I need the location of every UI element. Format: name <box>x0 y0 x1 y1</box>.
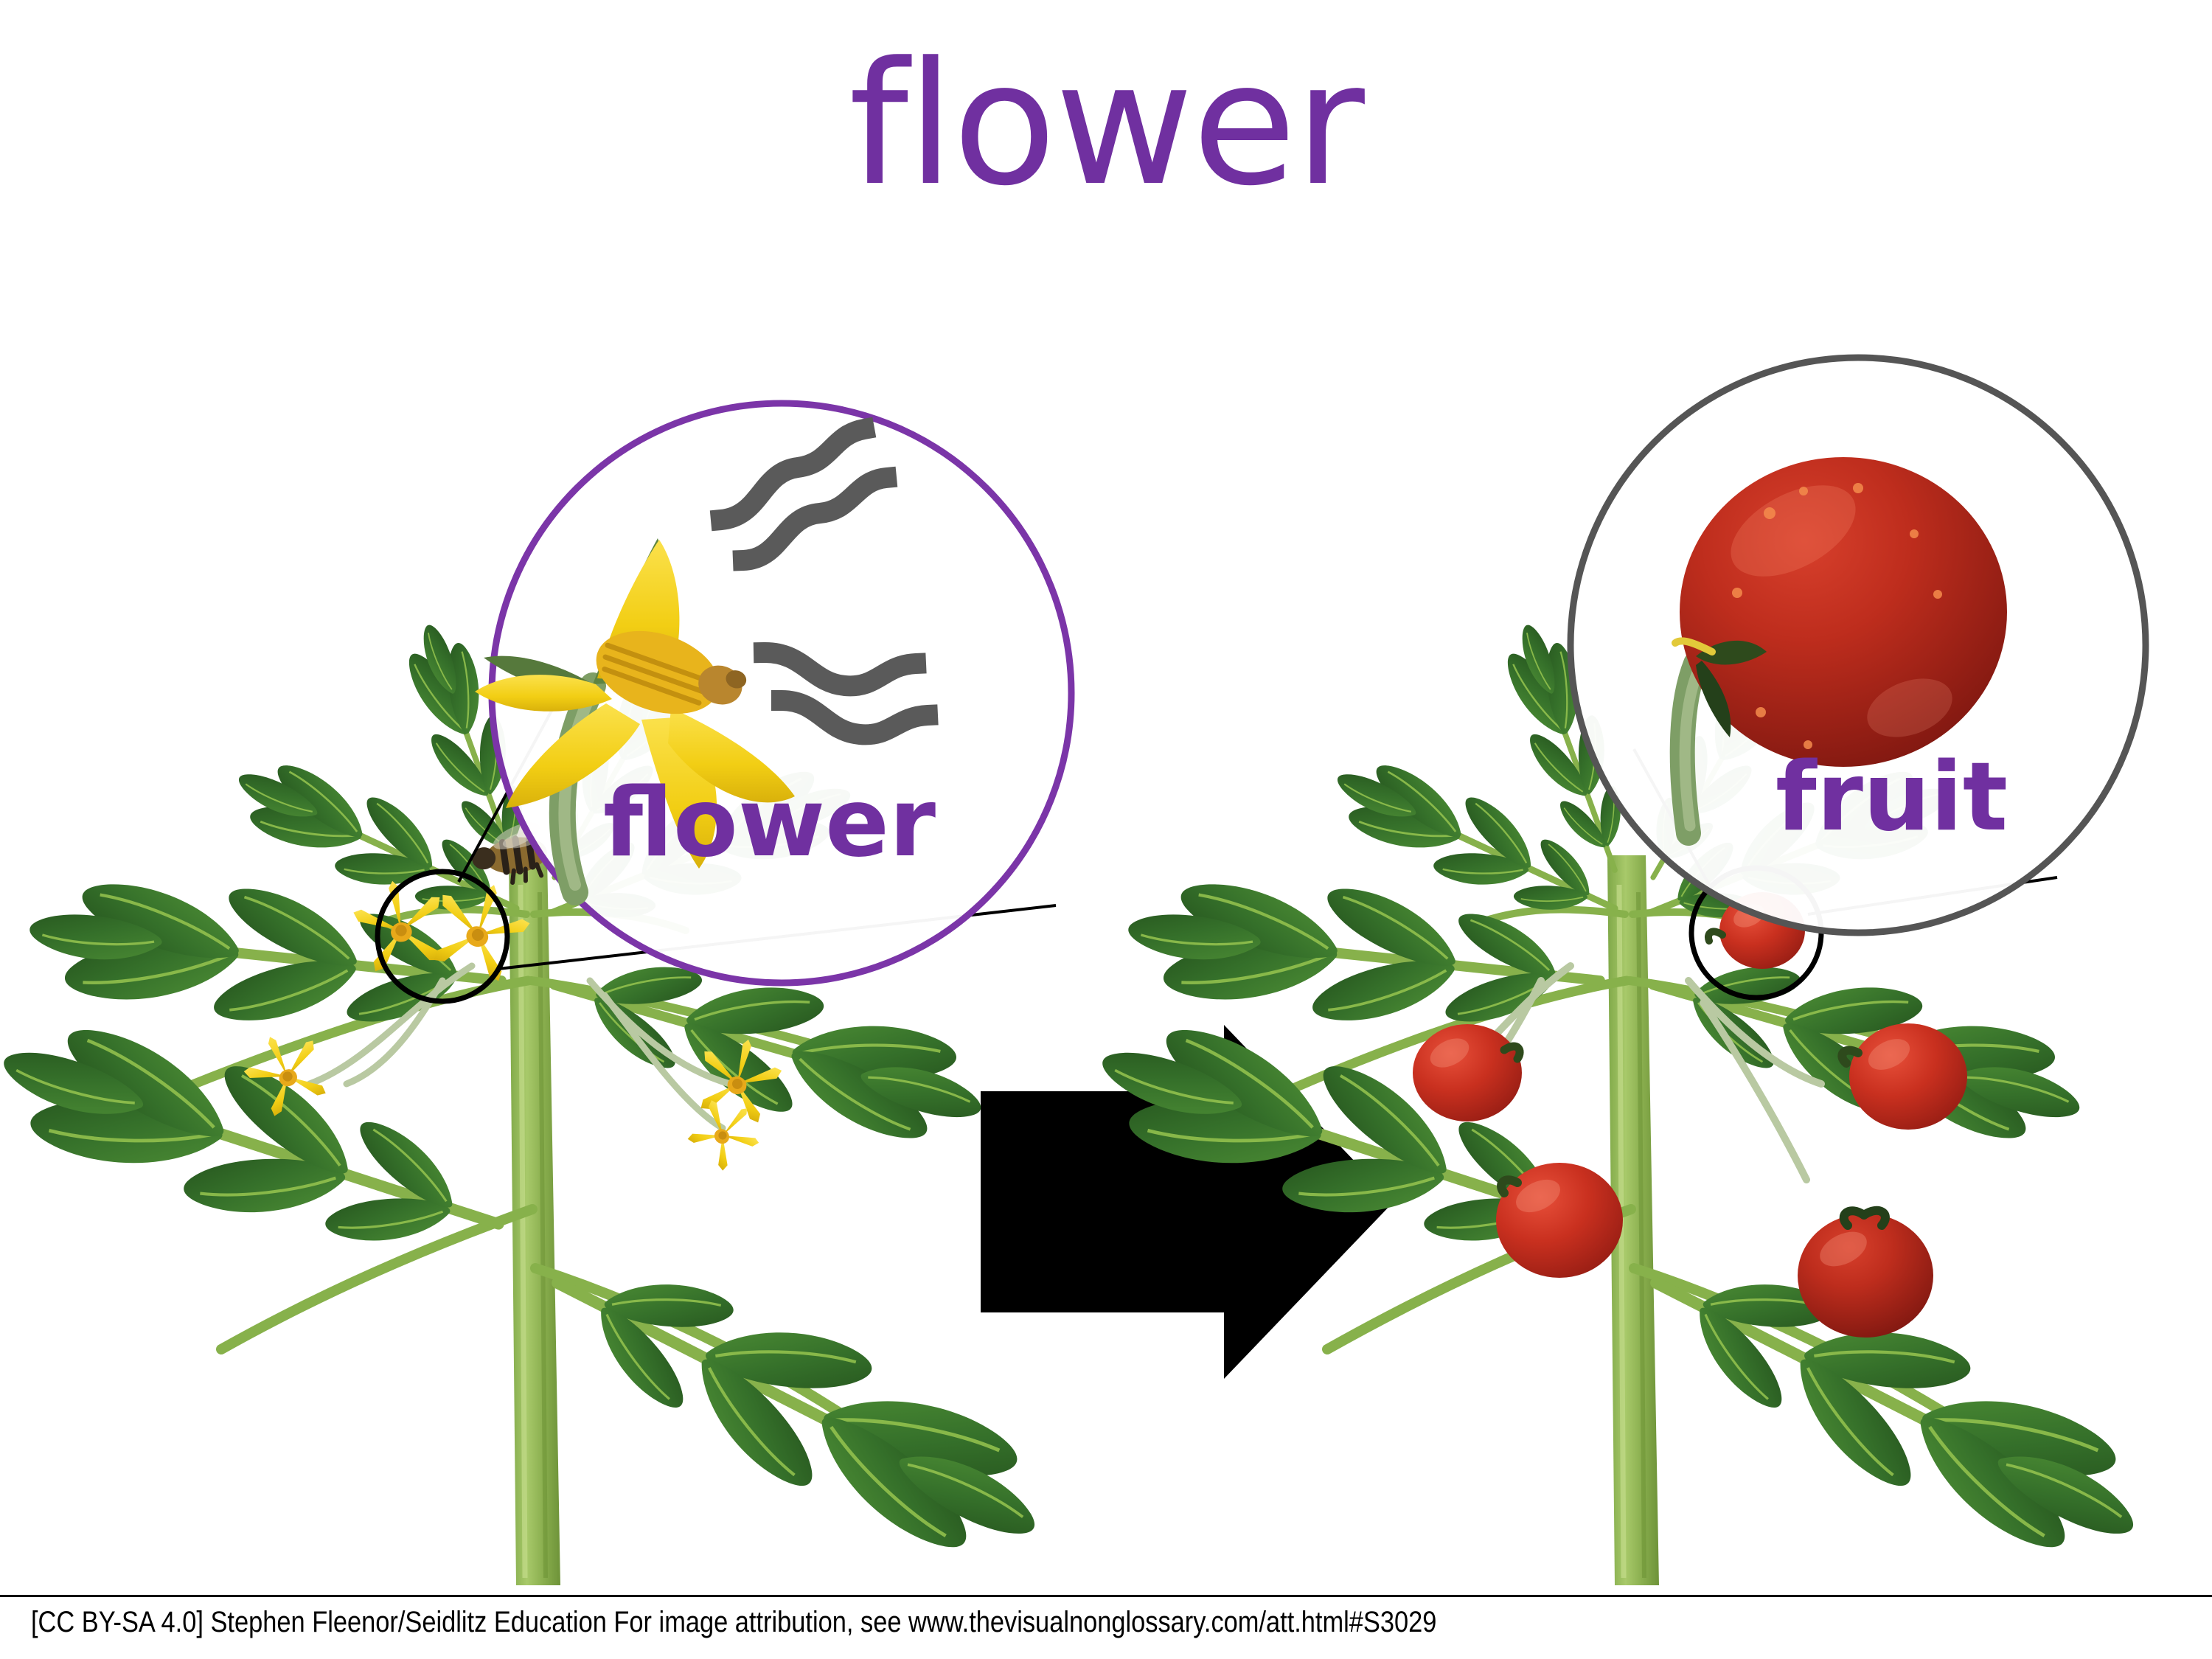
footer-divider <box>0 1595 2212 1597</box>
right-plant-fruits <box>1413 892 1967 1338</box>
fruit-callout-label: fruit <box>1775 751 2008 845</box>
attribution-text: [CC BY-SA 4.0] Stephen Fleenor/Seidlitz … <box>31 1606 1436 1638</box>
slide-canvas: flower <box>0 0 2212 1659</box>
svg-text:.: . <box>885 0 888 3</box>
flower-callout-label: flower <box>603 776 936 871</box>
